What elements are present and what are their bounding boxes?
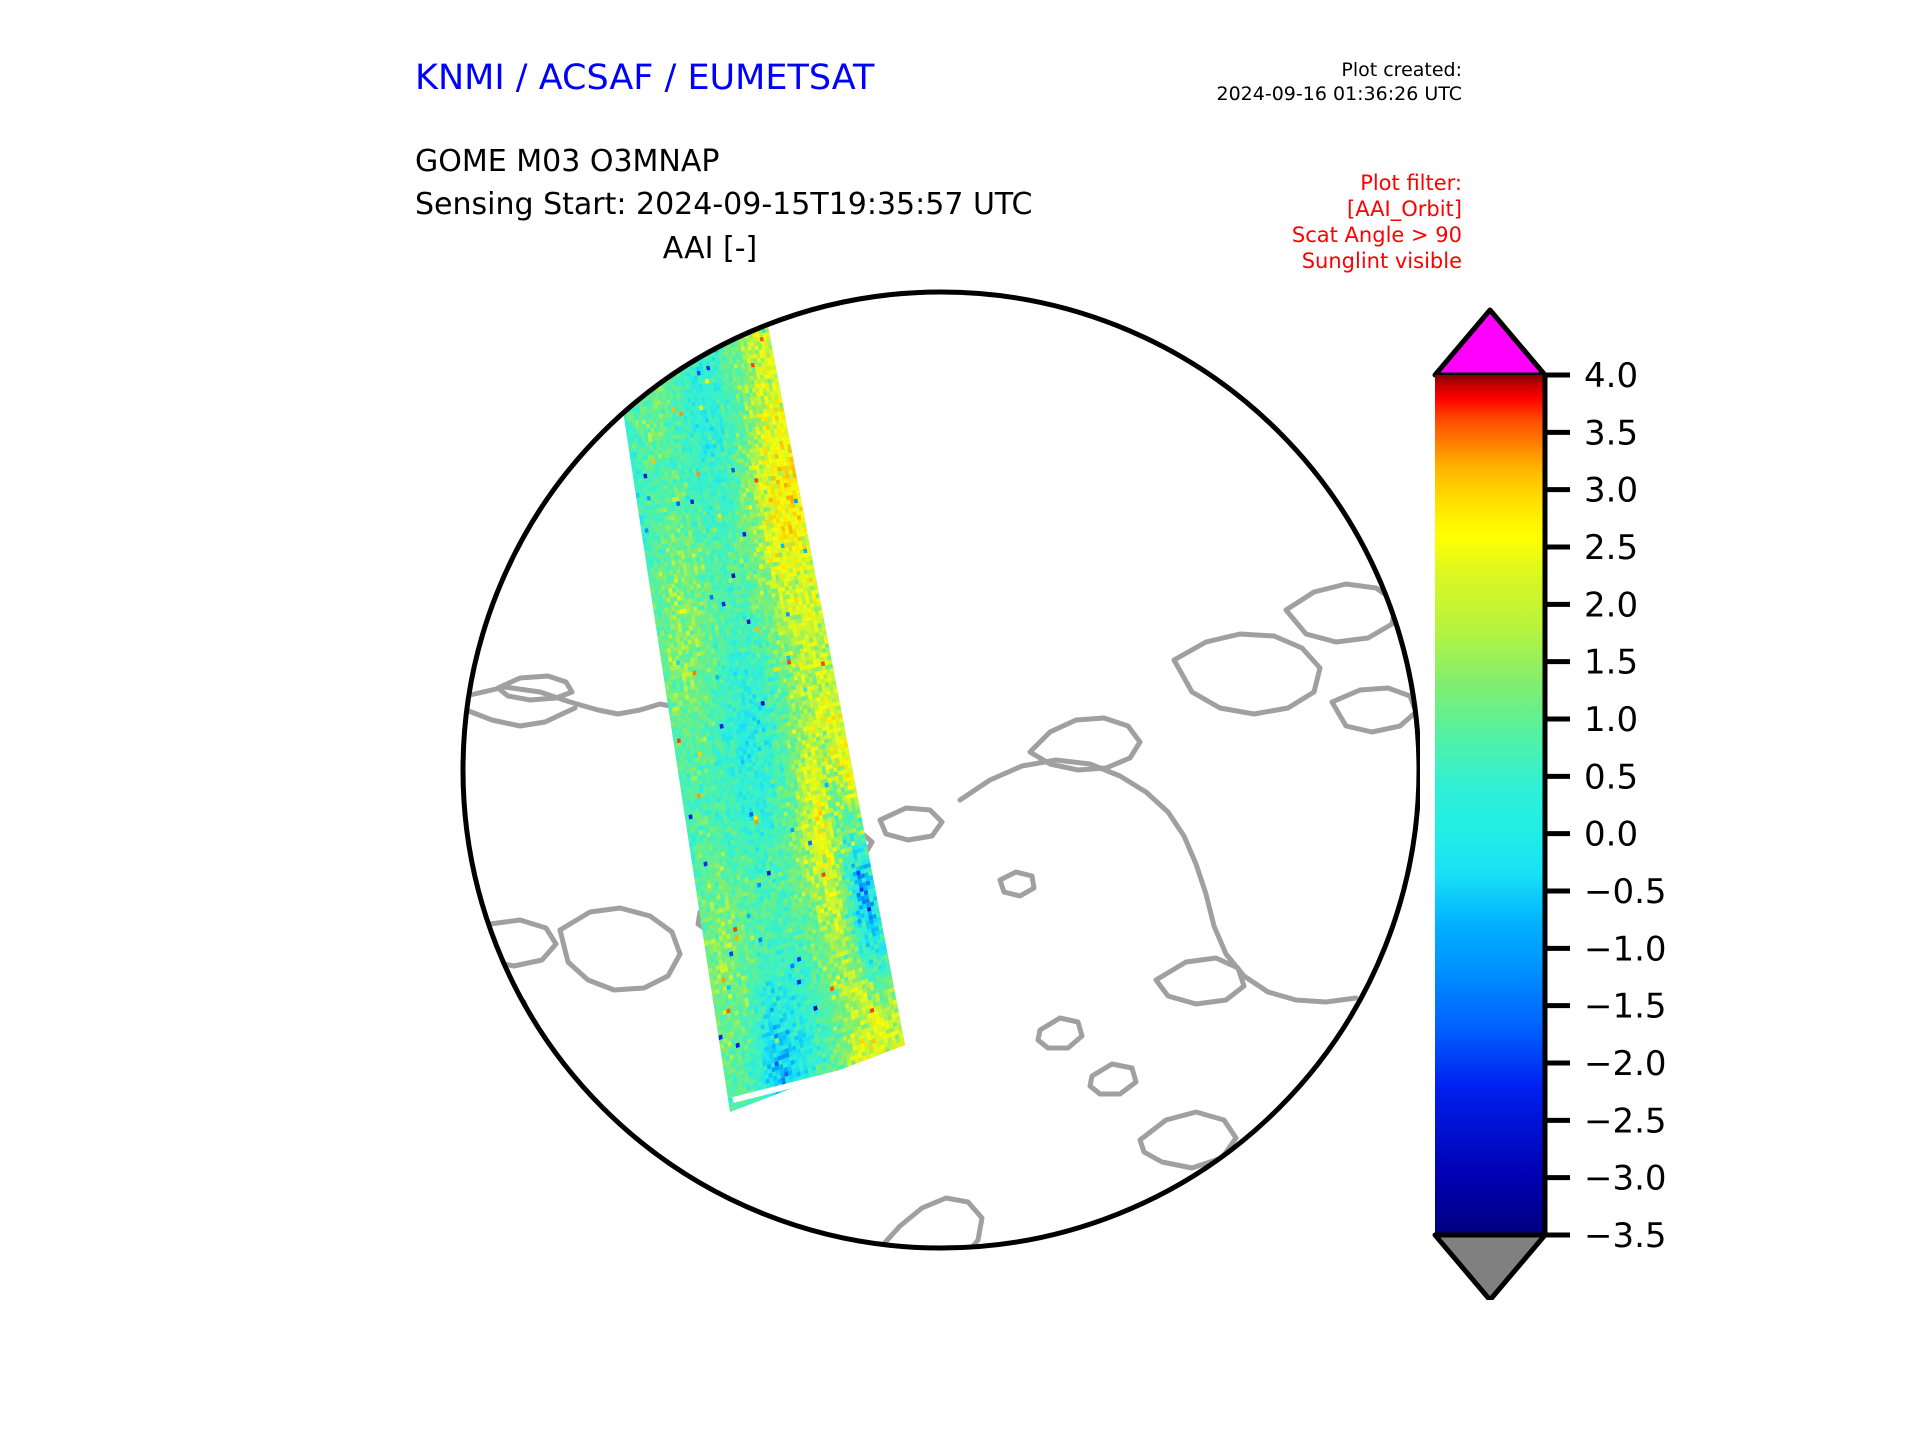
colorbar-gradient[interactable]: [1435, 375, 1545, 1235]
colorbar-tick-label: 3.0: [1584, 471, 1638, 511]
coastline-hudson-north: [438, 994, 530, 1036]
colorbar-tick-label: −1.0: [1584, 929, 1667, 969]
colorbar-tick-label: −0.5: [1584, 872, 1667, 912]
colorbar-panel: 4.03.53.02.52.01.51.00.50.0−0.5−1.0−1.5−…: [1432, 280, 1832, 1300]
colorbar-tick-label: −2.0: [1584, 1044, 1667, 1084]
globe-background: [463, 292, 1419, 1248]
plot-created-block: Plot created: 2024-09-16 01:36:26 UTC: [1217, 58, 1463, 106]
coastline-labrador: [400, 1086, 506, 1136]
product-name: GOME M03 O3MNAP: [415, 140, 1032, 183]
colorbar-tick-label: 0.5: [1584, 757, 1638, 797]
plot-created-label: Plot created:: [1217, 58, 1463, 82]
colorbar-tick-label: 2.5: [1584, 528, 1638, 568]
colorbar-ticks-group: 4.03.53.02.52.01.51.00.50.0−0.5−1.0−1.5−…: [1545, 356, 1667, 1256]
colorbar-tick-label: −3.0: [1584, 1159, 1667, 1199]
map-panel: [0, 240, 1420, 1350]
colorbar-over-arrow: [1435, 310, 1545, 375]
colorbar-tick-label: 2.0: [1584, 585, 1638, 625]
colorbar-tick-label: −2.5: [1584, 1101, 1667, 1141]
colorbar-tick-label: 0.0: [1584, 815, 1638, 855]
colorbar-tick-label: 1.0: [1584, 700, 1638, 740]
plot-filter-label: Plot filter:: [1292, 170, 1462, 196]
colorbar-tick-label: −1.5: [1584, 987, 1667, 1027]
coastline-iceland: [678, 1240, 730, 1270]
coastline-british-isles: [826, 1284, 898, 1342]
sensing-start: Sensing Start: 2024-09-15T19:35:57 UTC: [415, 183, 1032, 226]
colorbar-under-arrow: [1435, 1235, 1545, 1300]
plot-created-value: 2024-09-16 01:36:26 UTC: [1217, 82, 1463, 106]
coastline-east-europe: [1188, 1218, 1264, 1262]
colorbar-tick-label: 1.5: [1584, 643, 1638, 683]
colorbar: 4.03.53.02.52.01.51.00.50.0−0.5−1.0−1.5−…: [1432, 280, 1832, 1300]
product-title-block: GOME M03 O3MNAP Sensing Start: 2024-09-1…: [415, 140, 1032, 226]
header-institutes: KNMI / ACSAF / EUMETSAT: [415, 58, 874, 98]
colorbar-tick-label: 3.5: [1584, 413, 1638, 453]
polar-map: [0, 240, 1420, 1350]
colorbar-tick-label: 4.0: [1584, 356, 1638, 396]
coastline-baltic: [958, 1272, 1026, 1318]
plot-filter-line-1: [AAI_Orbit]: [1292, 196, 1462, 222]
colorbar-tick-label: −3.5: [1584, 1216, 1667, 1256]
coastline-hudson-bay: [470, 1048, 556, 1090]
coastline-asia-south: [1336, 1270, 1416, 1286]
